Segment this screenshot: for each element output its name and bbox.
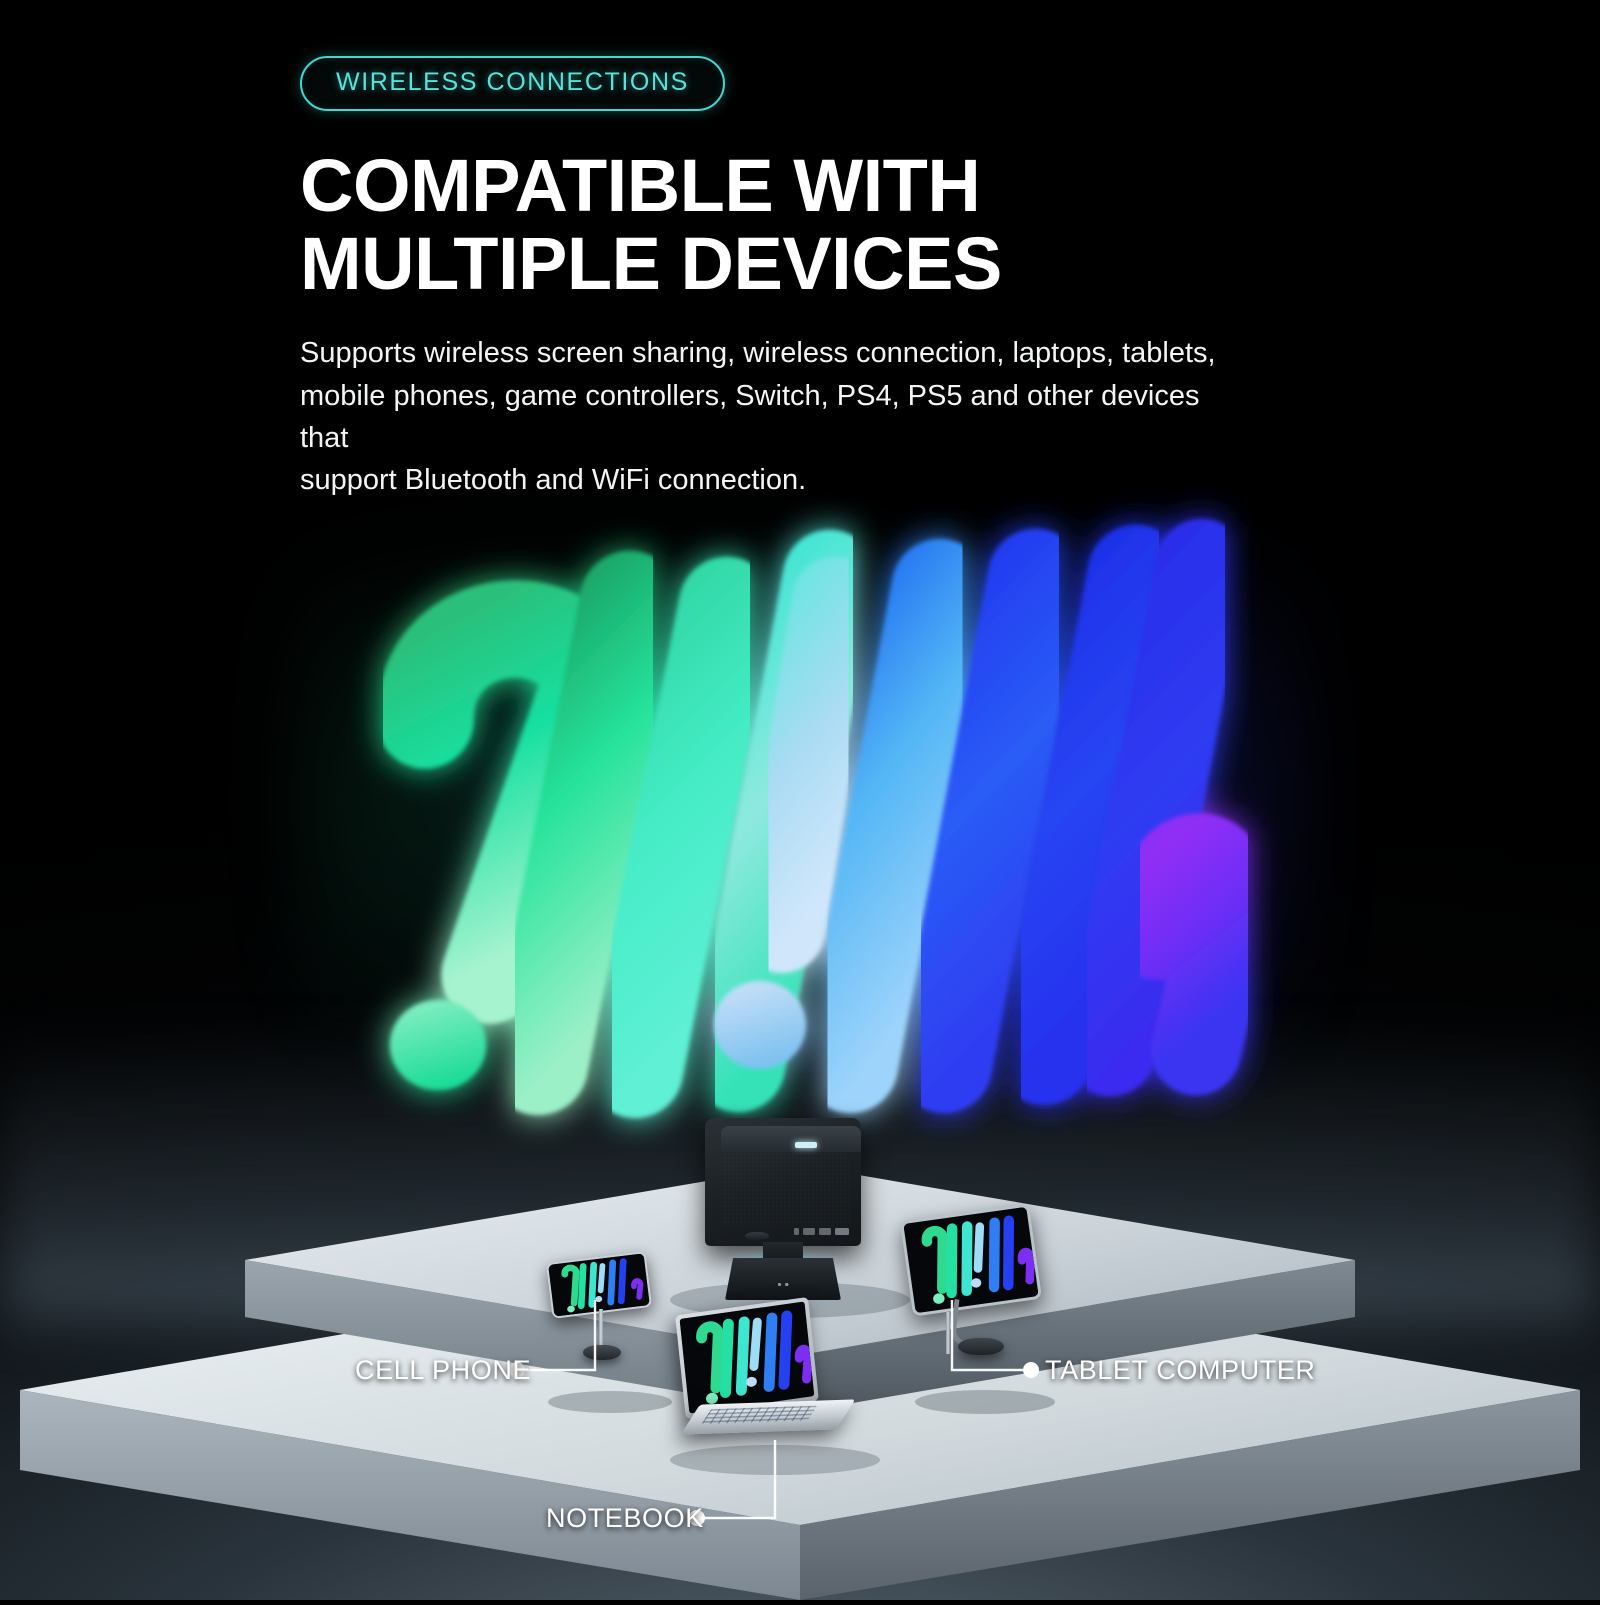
port-jack: [794, 1228, 799, 1235]
notebook-device: [670, 1306, 856, 1442]
tablet-computer-device: [900, 1212, 1060, 1370]
tablet-screen: [900, 1203, 1042, 1316]
cell-phone-stand-stem: [599, 1309, 603, 1349]
abstract-wallpaper-artwork: [330, 505, 1250, 1100]
page-title: COMPATIBLE WITH MULTIPLE DEVICES: [300, 147, 1360, 302]
callout-label-tablet-computer: TABLET COMPUTER: [1045, 1355, 1316, 1386]
portable-projector: [697, 1096, 869, 1301]
tablet-stand-stem: [946, 1312, 950, 1354]
projector-top-panel: [721, 1126, 861, 1152]
notebook-keyboard: [701, 1406, 817, 1425]
port-row: [787, 1227, 849, 1236]
projector-lens-icon: [745, 1232, 769, 1240]
subcopy-line-1: Supports wireless screen sharing, wirele…: [300, 332, 1230, 374]
description-text: Supports wireless screen sharing, wirele…: [300, 332, 1230, 501]
subcopy-line-3: support Bluetooth and WiFi connection.: [300, 459, 1230, 501]
port-usb-b: [819, 1228, 831, 1235]
headline-line-2: MULTIPLE DEVICES: [300, 225, 1360, 303]
cell-phone-device: [549, 1257, 665, 1375]
speaker-grille: [723, 1152, 849, 1226]
cell-phone-stand-base: [583, 1345, 621, 1360]
artwork-strokes: [390, 565, 1230, 1090]
port-hdmi: [835, 1228, 849, 1235]
headline-line-1: COMPATIBLE WITH: [300, 147, 1360, 225]
tablet-stand-base: [958, 1338, 1004, 1355]
notebook-screen: [680, 1301, 815, 1413]
projector-base: [725, 1258, 841, 1300]
artwork-svg: [330, 505, 1250, 1100]
callout-label-notebook: NOTEBOOK: [546, 1503, 704, 1534]
header-text-block: WIRELESS CONNECTIONS COMPATIBLE WITH MUL…: [300, 56, 1360, 502]
notebook-wallpaper: [680, 1301, 815, 1413]
power-indicator-icon: [795, 1142, 817, 1148]
subcopy-line-2: mobile phones, game controllers, Switch,…: [300, 375, 1230, 460]
cell-phone-wallpaper: [548, 1253, 650, 1316]
wireless-connections-badge: WIRELESS CONNECTIONS: [300, 56, 725, 111]
callout-label-cell-phone: CELL PHONE: [355, 1355, 531, 1386]
port-usb-a: [803, 1228, 815, 1235]
notebook-keyboard-base: [681, 1399, 856, 1434]
projector-body: [705, 1118, 861, 1246]
tablet-wallpaper: [903, 1207, 1038, 1313]
